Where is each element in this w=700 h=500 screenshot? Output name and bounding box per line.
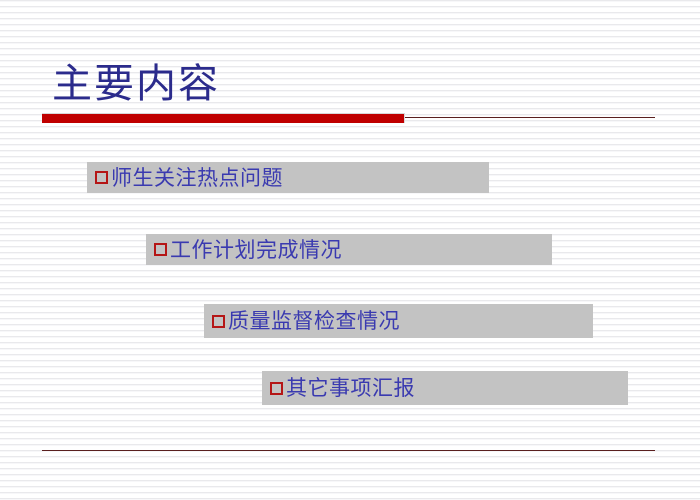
bullet-label-1: 师生关注热点问题 — [111, 166, 283, 190]
bullet-box-2[interactable]: 工作计划完成情况 — [146, 234, 552, 265]
bullet-label-4: 其它事项汇报 — [286, 376, 415, 400]
slide-title-block: 主要内容 — [52, 58, 672, 114]
bullet-box-4[interactable]: 其它事项汇报 — [262, 371, 628, 405]
hollow-square-bullet-icon — [154, 243, 167, 256]
presentation-slide: 主要内容 师生关注热点问题 工作计划完成情况 质量监督检查情况 其它事项汇报 — [0, 0, 700, 500]
bullet-box-1[interactable]: 师生关注热点问题 — [87, 162, 489, 193]
slide-title: 主要内容 — [52, 58, 672, 110]
hollow-square-bullet-icon — [270, 382, 283, 395]
hollow-square-bullet-icon — [212, 315, 225, 328]
title-accent-bar — [42, 113, 405, 123]
footer-divider — [42, 450, 655, 451]
bullet-label-2: 工作计划完成情况 — [170, 238, 342, 262]
bullet-label-3: 质量监督检查情况 — [228, 309, 400, 333]
hollow-square-bullet-icon — [95, 171, 108, 184]
bullet-box-3[interactable]: 质量监督检查情况 — [204, 304, 593, 338]
title-underline-group — [42, 112, 655, 124]
